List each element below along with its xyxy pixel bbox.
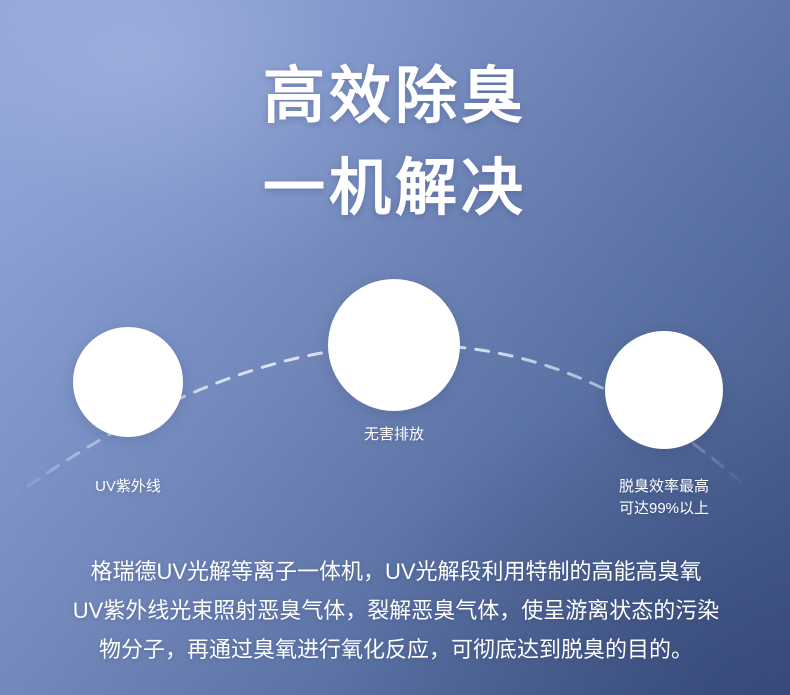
node-circle-uv [73, 327, 183, 437]
node-label-efficiency-line-1: 脱臭效率最高 [564, 476, 764, 498]
node-label-efficiency: 脱臭效率最高 可达99%以上 [564, 476, 764, 520]
promo-poster: 高效除臭 一机解决 UV紫外线 无害排放 脱臭效率最高 可达99%以上 [0, 0, 790, 695]
description-line-1: 格瑞德UV光解等离子一体机，UV光解段利用特制的高能高臭氧 [40, 552, 752, 591]
page-title-line-2: 一机解决 [0, 144, 790, 234]
page-title-line-1: 高效除臭 [0, 52, 790, 142]
node-label-uv-line-1: UV紫外线 [28, 476, 228, 498]
description-line-3: 物分子，再通过臭氧进行氧化反应，可彻底达到脱臭的目的。 [40, 630, 752, 669]
page-title: 高效除臭 一机解决 [0, 52, 790, 234]
node-label-emission-line-1: 无害排放 [294, 424, 494, 446]
node-label-uv: UV紫外线 [28, 476, 228, 498]
node-circle-emission [328, 279, 460, 411]
node-circle-efficiency [605, 331, 723, 449]
description-paragraph: 格瑞德UV光解等离子一体机，UV光解段利用特制的高能高臭氧 UV紫外线光束照射恶… [40, 552, 752, 669]
node-label-efficiency-line-2: 可达99%以上 [564, 498, 764, 520]
node-label-emission: 无害排放 [294, 424, 494, 446]
description-line-2: UV紫外线光束照射恶臭气体，裂解恶臭气体，使呈游离状态的污染 [40, 591, 752, 630]
